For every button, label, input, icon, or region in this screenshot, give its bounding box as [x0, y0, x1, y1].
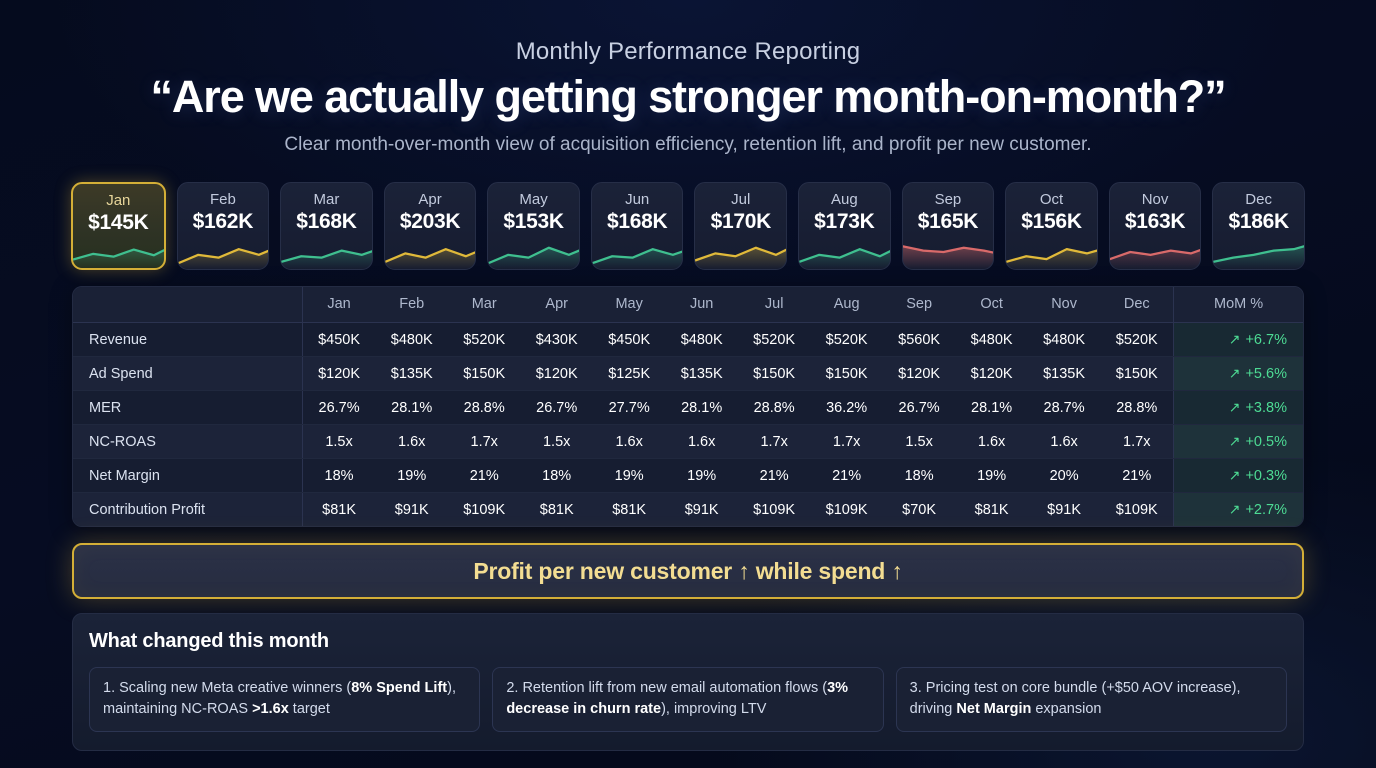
trend-up-arrow-icon: ↗ — [1229, 331, 1241, 347]
table-row: NC-ROAS1.5x1.6x1.7x1.5x1.6x1.6x1.7x1.7x1… — [73, 425, 1303, 459]
report-page: Monthly Performance Reporting “Are we ac… — [0, 0, 1376, 768]
table-cell: 1.7x — [1100, 425, 1173, 459]
trend-up-arrow-icon: ↗ — [1229, 433, 1241, 449]
month-card-label: Jul — [731, 192, 750, 209]
table-cell: $109K — [810, 493, 882, 527]
month-card-label: Oct — [1040, 192, 1063, 209]
table-row-label: Contribution Profit — [73, 493, 302, 527]
table-col-nov: Nov — [1028, 287, 1100, 323]
table-cell: $91K — [1028, 493, 1100, 527]
table-cell: 28.8% — [738, 391, 810, 425]
table-cell: 1.6x — [593, 425, 665, 459]
table-cell: 21% — [738, 459, 810, 493]
table-col-sep: Sep — [883, 287, 955, 323]
mom-value: +0.5% — [1245, 434, 1287, 450]
table-col-metric — [73, 287, 302, 323]
month-card-oct[interactable]: Oct$156K — [1005, 182, 1098, 270]
table-cell: 19% — [955, 459, 1027, 493]
table-cell: $135K — [375, 357, 447, 391]
table-cell: 1.6x — [665, 425, 737, 459]
table-cell: 1.7x — [448, 425, 520, 459]
change-note-2: 2. Retention lift from new email automat… — [492, 667, 883, 732]
month-card-mar[interactable]: Mar$168K — [280, 182, 373, 270]
metrics-table-panel: JanFebMarAprMayJunJulAugSepOctNovDecMoM … — [72, 286, 1304, 527]
trend-up-arrow-icon: ↗ — [1229, 501, 1241, 517]
note-highlight: >1.6x — [252, 701, 289, 717]
sparkline-jun — [592, 235, 684, 269]
table-cell: $81K — [955, 493, 1027, 527]
table-cell: 28.8% — [1100, 391, 1173, 425]
trend-up-arrow-icon: ↗ — [1229, 467, 1241, 483]
month-card-label: Feb — [210, 192, 236, 209]
table-cell: 28.1% — [955, 391, 1027, 425]
table-cell: $480K — [955, 323, 1027, 357]
change-note-3: 3. Pricing test on core bundle (+$50 AOV… — [896, 667, 1287, 732]
mom-value: +6.7% — [1245, 332, 1287, 348]
eyebrow-text: Monthly Performance Reporting — [0, 38, 1376, 66]
table-cell: 1.6x — [1028, 425, 1100, 459]
month-card-dec[interactable]: Dec$186K — [1212, 182, 1305, 270]
mom-value: +0.3% — [1245, 468, 1287, 484]
table-cell: 28.1% — [375, 391, 447, 425]
table-col-jan: Jan — [302, 287, 375, 323]
sparkline-apr — [385, 235, 477, 269]
table-row: Ad Spend$120K$135K$150K$120K$125K$135K$1… — [73, 357, 1303, 391]
table-cell: $520K — [1100, 323, 1173, 357]
table-header-row: JanFebMarAprMayJunJulAugSepOctNovDecMoM … — [73, 287, 1303, 323]
mom-value: +5.6% — [1245, 366, 1287, 382]
page-subtitle: Clear month-over-month view of acquisiti… — [0, 134, 1376, 156]
table-cell: 21% — [810, 459, 882, 493]
table-cell: $120K — [520, 357, 592, 391]
sparkline-mar — [281, 235, 373, 269]
metrics-table: JanFebMarAprMayJunJulAugSepOctNovDecMoM … — [73, 287, 1303, 526]
month-card-label: Jun — [625, 192, 649, 209]
table-col-oct: Oct — [955, 287, 1027, 323]
table-cell-mom: ↗+0.3% — [1174, 459, 1303, 493]
sparkline-jan — [73, 234, 166, 268]
sparkline-may — [488, 235, 580, 269]
table-cell: 26.7% — [883, 391, 955, 425]
what-changed-notes: 1. Scaling new Meta creative winners (8%… — [89, 667, 1287, 732]
month-card-value: $170K — [711, 210, 771, 234]
table-cell: $120K — [955, 357, 1027, 391]
month-card-sep[interactable]: Sep$165K — [902, 182, 995, 270]
table-cell: $150K — [810, 357, 882, 391]
table-cell-mom: ↗+2.7% — [1174, 493, 1303, 527]
table-cell: 27.7% — [593, 391, 665, 425]
table-cell-mom: ↗+5.6% — [1174, 357, 1303, 391]
table-col-dec: Dec — [1100, 287, 1173, 323]
table-row: Revenue$450K$480K$520K$430K$450K$480K$52… — [73, 323, 1303, 357]
month-card-value: $153K — [503, 210, 563, 234]
what-changed-title: What changed this month — [89, 630, 1287, 653]
month-card-value: $145K — [88, 211, 148, 235]
table-cell: $81K — [302, 493, 375, 527]
table-cell: $450K — [302, 323, 375, 357]
table-head: JanFebMarAprMayJunJulAugSepOctNovDecMoM … — [73, 287, 1303, 323]
table-cell: $150K — [738, 357, 810, 391]
table-cell: $120K — [883, 357, 955, 391]
month-card-label: Jan — [106, 193, 130, 210]
table-cell: 21% — [1100, 459, 1173, 493]
page-header: Monthly Performance Reporting “Are we ac… — [0, 0, 1376, 156]
sparkline-nov — [1110, 235, 1202, 269]
table-cell: 19% — [375, 459, 447, 493]
table-cell: 18% — [302, 459, 375, 493]
month-card-value: $163K — [1125, 210, 1185, 234]
table-cell: $135K — [1028, 357, 1100, 391]
table-col-aug: Aug — [810, 287, 882, 323]
mom-value: +2.7% — [1245, 502, 1287, 518]
month-card-aug[interactable]: Aug$173K — [798, 182, 891, 270]
table-cell: 28.1% — [665, 391, 737, 425]
table-cell: $480K — [665, 323, 737, 357]
table-row: MER26.7%28.1%28.8%26.7%27.7%28.1%28.8%36… — [73, 391, 1303, 425]
note-text: target — [289, 701, 330, 717]
month-card-feb[interactable]: Feb$162K — [177, 182, 270, 270]
table-row-label: Net Margin — [73, 459, 302, 493]
note-text: expansion — [1031, 701, 1101, 717]
month-card-value: $162K — [193, 210, 253, 234]
table-cell: 20% — [1028, 459, 1100, 493]
table-cell: $109K — [738, 493, 810, 527]
table-col-jul: Jul — [738, 287, 810, 323]
table-cell: 21% — [448, 459, 520, 493]
month-card-label: Mar — [314, 192, 340, 209]
month-card-value: $173K — [814, 210, 874, 234]
sparkline-jul — [695, 235, 787, 269]
month-card-value: $168K — [607, 210, 667, 234]
month-card-label: Aug — [831, 192, 858, 209]
table-col-feb: Feb — [375, 287, 447, 323]
table-cell: $520K — [810, 323, 882, 357]
table-cell: $70K — [883, 493, 955, 527]
sparkline-sep — [903, 235, 995, 269]
table-row-label: Ad Spend — [73, 357, 302, 391]
note-text: 1. Scaling new Meta creative winners ( — [103, 680, 351, 696]
table-cell: $150K — [1100, 357, 1173, 391]
month-card-row: Jan$145KFeb$162KMar$168KApr$203KMay$153K… — [71, 182, 1305, 270]
table-cell: $81K — [520, 493, 592, 527]
month-card-label: Apr — [418, 192, 441, 209]
table-cell-mom: ↗+0.5% — [1174, 425, 1303, 459]
note-highlight: 8% Spend Lift — [351, 680, 447, 696]
table-cell: $430K — [520, 323, 592, 357]
table-cell: $91K — [665, 493, 737, 527]
table-col-may: May — [593, 287, 665, 323]
table-cell: 19% — [665, 459, 737, 493]
table-cell: $120K — [302, 357, 375, 391]
table-cell: $520K — [448, 323, 520, 357]
month-card-jan[interactable]: Jan$145K — [71, 182, 166, 270]
table-cell: 1.5x — [520, 425, 592, 459]
sparkline-feb — [178, 235, 270, 269]
sparkline-aug — [799, 235, 891, 269]
table-cell: $109K — [448, 493, 520, 527]
table-cell: $560K — [883, 323, 955, 357]
table-cell: $109K — [1100, 493, 1173, 527]
note-highlight: Net Margin — [956, 701, 1031, 717]
table-col-mar: Mar — [448, 287, 520, 323]
table-cell: $81K — [593, 493, 665, 527]
table-cell: 1.7x — [738, 425, 810, 459]
insight-banner: Profit per new customer ↑ while spend ↑ — [72, 543, 1304, 599]
month-card-jun[interactable]: Jun$168K — [591, 182, 684, 270]
month-card-value: $156K — [1021, 210, 1081, 234]
month-card-value: $203K — [400, 210, 460, 234]
table-cell: $520K — [738, 323, 810, 357]
table-cell: 26.7% — [302, 391, 375, 425]
table-cell: 1.5x — [883, 425, 955, 459]
table-row-label: NC-ROAS — [73, 425, 302, 459]
table-col-jun: Jun — [665, 287, 737, 323]
table-cell: 28.7% — [1028, 391, 1100, 425]
table-row-label: MER — [73, 391, 302, 425]
month-card-value: $186K — [1228, 210, 1288, 234]
month-card-may[interactable]: May$153K — [487, 182, 580, 270]
month-card-nov[interactable]: Nov$163K — [1109, 182, 1202, 270]
mom-value: +3.8% — [1245, 400, 1287, 416]
table-cell: 18% — [520, 459, 592, 493]
month-card-value: $168K — [296, 210, 356, 234]
change-note-1: 1. Scaling new Meta creative winners (8%… — [89, 667, 480, 732]
table-cell: 1.6x — [955, 425, 1027, 459]
month-card-label: May — [519, 192, 547, 209]
table-cell: $450K — [593, 323, 665, 357]
table-col-apr: Apr — [520, 287, 592, 323]
table-cell: 1.5x — [302, 425, 375, 459]
trend-up-arrow-icon: ↗ — [1229, 399, 1241, 415]
month-card-value: $165K — [918, 210, 978, 234]
trend-up-arrow-icon: ↗ — [1229, 365, 1241, 381]
table-cell: $135K — [665, 357, 737, 391]
month-card-apr[interactable]: Apr$203K — [384, 182, 477, 270]
table-row: Net Margin18%19%21%18%19%19%21%21%18%19%… — [73, 459, 1303, 493]
table-cell: $91K — [375, 493, 447, 527]
note-text: ), improving LTV — [661, 701, 766, 717]
table-row-label: Revenue — [73, 323, 302, 357]
table-cell: $150K — [448, 357, 520, 391]
table-cell: 18% — [883, 459, 955, 493]
table-cell: $480K — [1028, 323, 1100, 357]
table-row: Contribution Profit$81K$91K$109K$81K$81K… — [73, 493, 1303, 527]
month-card-jul[interactable]: Jul$170K — [694, 182, 787, 270]
month-card-label: Dec — [1245, 192, 1272, 209]
table-cell: 36.2% — [810, 391, 882, 425]
insight-banner-text: Profit per new customer ↑ while spend ↑ — [473, 558, 902, 585]
sparkline-oct — [1006, 235, 1098, 269]
sparkline-dec — [1213, 235, 1305, 269]
table-cell: $125K — [593, 357, 665, 391]
month-card-label: Nov — [1142, 192, 1169, 209]
month-card-label: Sep — [935, 192, 962, 209]
what-changed-panel: What changed this month 1. Scaling new M… — [72, 613, 1304, 751]
table-cell: 1.7x — [810, 425, 882, 459]
table-cell: 28.8% — [448, 391, 520, 425]
table-cell-mom: ↗+3.8% — [1174, 391, 1303, 425]
table-cell: 26.7% — [520, 391, 592, 425]
table-cell-mom: ↗+6.7% — [1174, 323, 1303, 357]
table-col-mom: MoM % — [1174, 287, 1303, 323]
page-title: “Are we actually getting stronger month-… — [0, 72, 1376, 122]
table-cell: 19% — [593, 459, 665, 493]
note-text: 2. Retention lift from new email automat… — [506, 680, 827, 696]
table-body: Revenue$450K$480K$520K$430K$450K$480K$52… — [73, 323, 1303, 527]
table-cell: $480K — [375, 323, 447, 357]
table-cell: 1.6x — [375, 425, 447, 459]
